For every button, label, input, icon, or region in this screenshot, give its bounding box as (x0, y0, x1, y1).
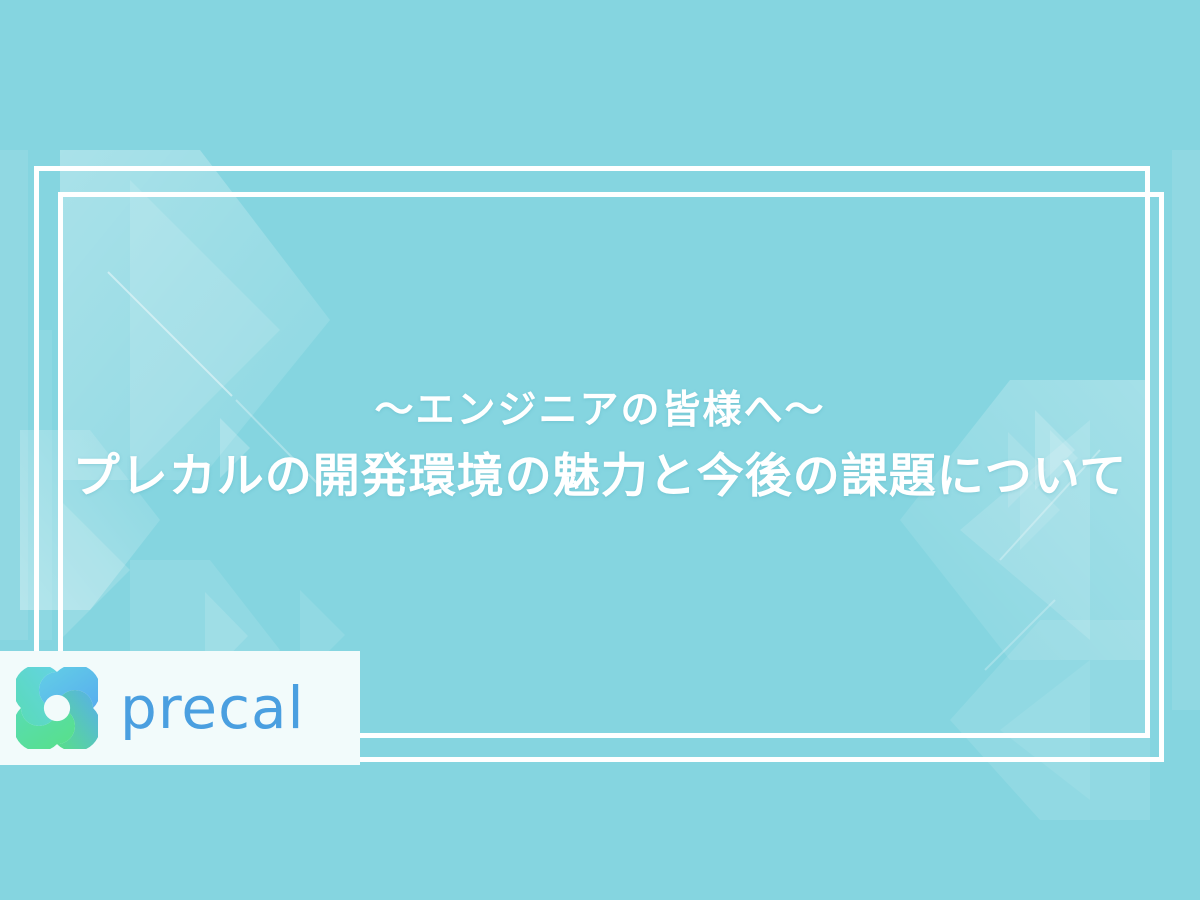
brand-logo-lockup: precal (0, 651, 360, 765)
presentation-slide: ～エンジニアの皆様へ～ プレカルの開発環境の魅力と今後の課題について (0, 0, 1200, 900)
slide-title-block: ～エンジニアの皆様へ～ プレカルの開発環境の魅力と今後の課題について (0, 385, 1200, 507)
slide-subtitle: ～エンジニアの皆様へ～ (0, 385, 1200, 438)
precal-logo-icon (16, 667, 98, 749)
precal-wordmark: precal (120, 679, 305, 737)
slide-main-title: プレカルの開発環境の魅力と今後の課題について (0, 444, 1200, 507)
